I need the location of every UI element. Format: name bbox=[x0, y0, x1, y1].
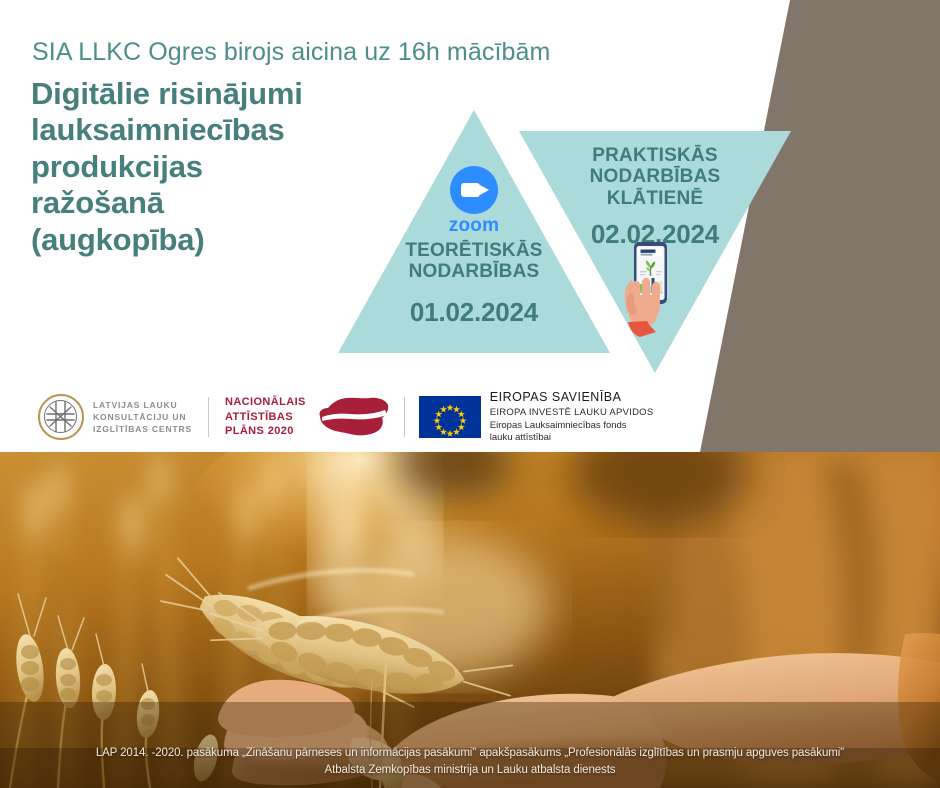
llkc-text-line-2: KONSULTĀCIJU UN bbox=[93, 411, 192, 423]
llkc-logo: LATVIJAS LAUKU KONSULTĀCIJU UN IZGLĪTĪBA… bbox=[0, 394, 192, 440]
headline-line-1: Digitālie risinājumi bbox=[31, 76, 431, 112]
eu-title: EIROPAS SAVIENĪBA bbox=[490, 390, 654, 406]
practical-session-text: PRAKTISKĀS NODARBĪBAS KLĀTIENĒ 02.02.202… bbox=[519, 145, 791, 250]
zoom-camera-icon bbox=[450, 166, 498, 214]
caption-line-1: LAP 2014. -2020. pasākuma „Zināšanu pārn… bbox=[0, 745, 940, 762]
funding-disclaimer-caption: LAP 2014. -2020. pasākuma „Zināšanu pārn… bbox=[0, 745, 940, 780]
eu-logo-text: EIROPAS SAVIENĪBA EIROPA INVESTĒ LAUKU A… bbox=[490, 390, 654, 445]
wheat-field-photo bbox=[0, 452, 940, 788]
latvia-map-icon bbox=[316, 396, 390, 438]
theory-title-line-2: NODARBĪBAS bbox=[338, 261, 610, 282]
eu-fund-line-1: Eiropas Lauksaimniecības fonds bbox=[490, 420, 654, 432]
practical-title-line-2: NODARBĪBAS bbox=[519, 166, 791, 187]
nap-text-line-1: NACIONĀLAIS bbox=[225, 395, 306, 410]
page-title: Digitālie risinājumi lauksaimniecības pr… bbox=[31, 76, 431, 258]
kicker-text: SIA LLKC Ogres birojs aicina uz 16h mācī… bbox=[32, 38, 550, 67]
nap-text-line-3: PLĀNS 2020 bbox=[225, 424, 306, 439]
zoom-wordmark: zoom bbox=[440, 215, 508, 237]
eu-logo: EIROPAS SAVIENĪBA EIROPA INVESTĒ LAUKU A… bbox=[419, 390, 654, 445]
eu-subtitle: EIROPA INVESTĒ LAUKU APVIDOS bbox=[490, 407, 654, 419]
eu-fund-line-2: lauku attīstībai bbox=[490, 432, 654, 444]
nap-logo: NACIONĀLAIS ATTĪSTĪBAS PLĀNS 2020 bbox=[225, 395, 390, 440]
llkc-text-line-1: LATVIJAS LAUKU bbox=[93, 399, 192, 411]
headline-line-3: produkcijas bbox=[31, 149, 431, 185]
hand-holding-smartphone-icon bbox=[596, 240, 676, 338]
practical-title-line-3: KLĀTIENĒ bbox=[519, 188, 791, 209]
headline-line-4: ražošanā bbox=[31, 185, 431, 221]
top-panel: SIA LLKC Ogres birojs aicina uz 16h mācī… bbox=[0, 0, 940, 452]
nap-text-line-2: ATTĪSTĪBAS bbox=[225, 410, 306, 425]
poster-canvas: SIA LLKC Ogres birojs aicina uz 16h mācī… bbox=[0, 0, 940, 788]
funding-logo-bar: LATVIJAS LAUKU KONSULTĀCIJU UN IZGLĪTĪBA… bbox=[0, 382, 700, 452]
caption-line-2: Atbalsta Zemkopības ministrija un Lauku … bbox=[0, 762, 940, 779]
llkc-text-line-3: IZGLĪTĪBAS CENTRS bbox=[93, 423, 192, 435]
llkc-emblem-icon bbox=[38, 394, 84, 440]
theory-date: 01.02.2024 bbox=[338, 297, 610, 328]
headline-line-2: lauksaimniecības bbox=[31, 112, 431, 148]
zoom-logo: zoom bbox=[440, 166, 508, 237]
practical-title-line-1: PRAKTISKĀS bbox=[519, 145, 791, 166]
logo-divider-1 bbox=[208, 397, 209, 437]
nap-logo-text: NACIONĀLAIS ATTĪSTĪBAS PLĀNS 2020 bbox=[225, 395, 306, 440]
theory-session-text: TEORĒTISKĀS NODARBĪBAS 01.02.2024 bbox=[338, 240, 610, 328]
logo-divider-2 bbox=[404, 397, 405, 437]
eu-flag-icon bbox=[419, 396, 481, 438]
llkc-logo-text: LATVIJAS LAUKU KONSULTĀCIJU UN IZGLĪTĪBA… bbox=[93, 399, 192, 435]
